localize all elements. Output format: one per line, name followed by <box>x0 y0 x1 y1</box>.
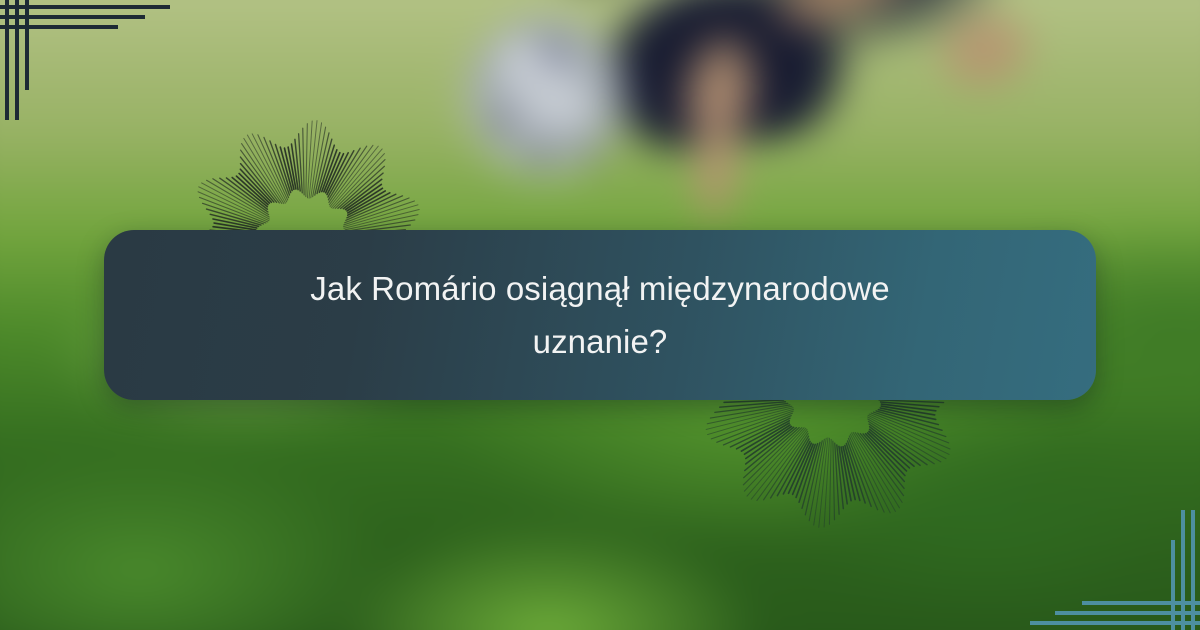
bracket-line-horizontal <box>1082 601 1200 605</box>
page-title: Jak Romário osiągnął międzynarodowe uzna… <box>185 262 1015 369</box>
bracket-line-horizontal <box>0 25 118 29</box>
bottom-right-corner-bracket <box>1000 490 1200 630</box>
question-card: Jak Romário osiągnął międzynarodowe uzna… <box>104 230 1096 400</box>
bracket-line-horizontal <box>1055 611 1200 615</box>
bracket-line-horizontal <box>0 15 145 19</box>
soccer-ball <box>460 15 630 185</box>
share-card-canvas: Jak Romário osiągnął międzynarodowe uzna… <box>0 0 1200 630</box>
bracket-line-vertical <box>25 0 29 90</box>
top-left-corner-bracket <box>0 0 200 140</box>
bracket-line-vertical <box>15 0 19 120</box>
bracket-line-vertical <box>1181 510 1185 630</box>
bracket-line-vertical <box>1171 540 1175 630</box>
